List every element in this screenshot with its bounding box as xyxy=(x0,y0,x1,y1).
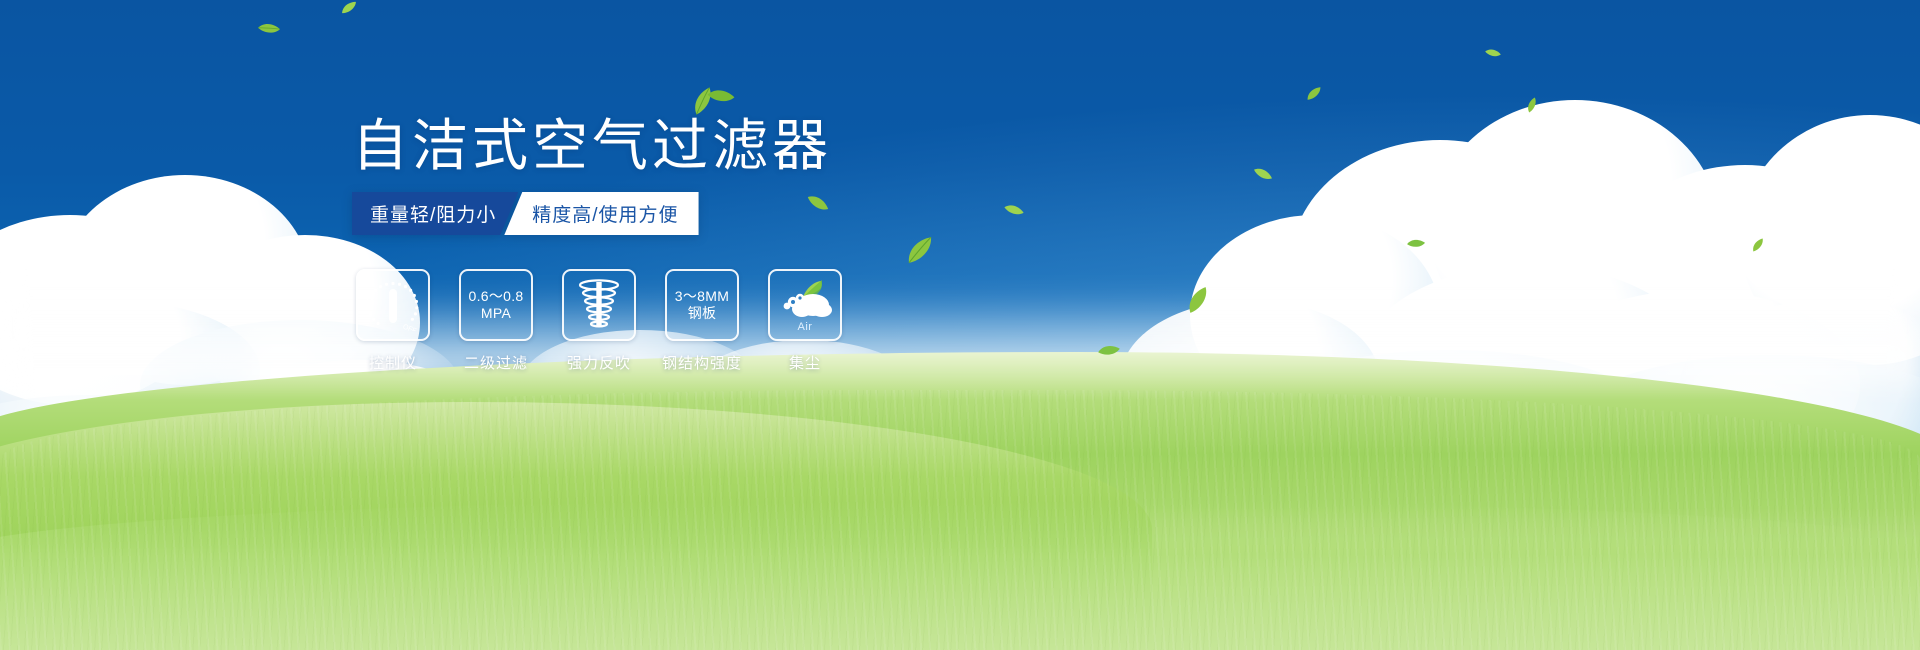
feature-caption: 强力反吹 xyxy=(562,352,636,373)
feature-two-stage-filter[interactable]: 0.6～0.8 MPA 二级过滤 xyxy=(459,269,533,373)
feature-icon-box: 3～8MM 钢板 xyxy=(665,269,739,341)
feature-caption: 控制仪 xyxy=(356,352,430,373)
tag-weight-resistance[interactable]: 重量轻/阻力小 xyxy=(352,192,518,235)
air-label: Air xyxy=(770,321,840,333)
feature-icon-box: NO OFF xyxy=(356,269,430,341)
steel-plate-text: 钢板 xyxy=(675,305,729,323)
feature-icon-box xyxy=(562,269,636,341)
feature-strong-blowback[interactable]: 强力反吹 xyxy=(562,269,636,373)
dial-off-label: OFF xyxy=(402,323,418,331)
feature-caption: 集尘 xyxy=(768,352,842,373)
feature-icon-row: NO OFF 控制仪 0.6～0.8 MPA 二级过滤 xyxy=(356,269,842,373)
feature-controller[interactable]: NO OFF 控制仪 xyxy=(356,269,430,373)
feature-dust-collection[interactable]: Air 集尘 xyxy=(768,269,842,373)
page-title: 自洁式空气过滤器 xyxy=(352,113,832,179)
dial-no-label: NO xyxy=(364,295,375,308)
pressure-unit-text: MPA xyxy=(468,305,523,323)
product-banner: 自洁式空气过滤器 重量轻/阻力小 精度高/使用方便 xyxy=(0,0,1920,650)
pressure-range-text: 0.6～0.8 xyxy=(468,288,523,306)
tag-precision-convenience[interactable]: 精度高/使用方便 xyxy=(504,192,698,235)
feature-caption: 钢结构强度 xyxy=(647,352,757,373)
feature-caption: 二级过滤 xyxy=(459,352,533,373)
feature-icon-box: Air xyxy=(768,269,842,341)
feature-steel-strength[interactable]: 3～8MM 钢板 钢结构强度 xyxy=(665,269,739,373)
steel-thickness-text: 3～8MM xyxy=(675,288,729,306)
feature-icon-box: 0.6～0.8 MPA xyxy=(459,269,533,341)
feature-tag-group: 重量轻/阻力小 精度高/使用方便 xyxy=(352,192,699,235)
coil-spring-icon xyxy=(574,278,624,332)
dial-knob-icon: NO OFF xyxy=(363,279,423,331)
